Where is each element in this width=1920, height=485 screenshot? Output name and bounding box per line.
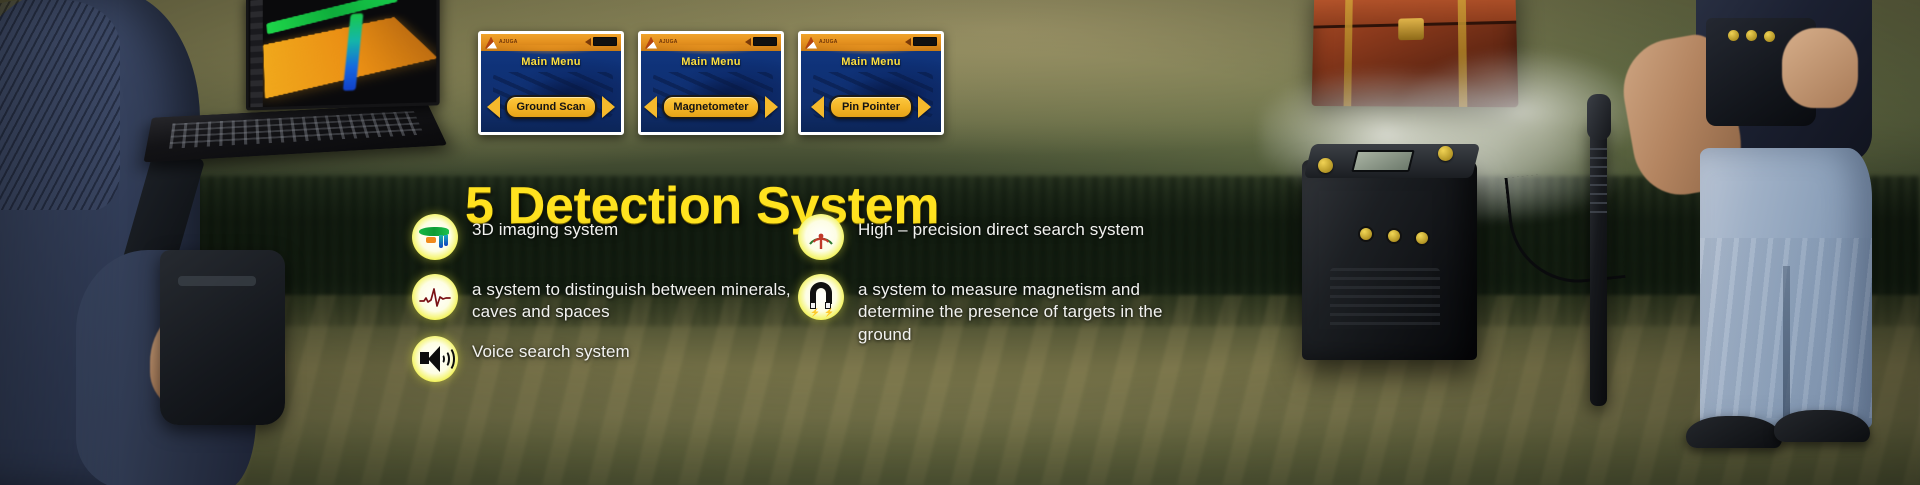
terrain-blue-spike-2 <box>444 235 448 246</box>
chest-band-left <box>1344 0 1353 106</box>
laptop-keyboard-base <box>143 104 447 163</box>
3d-terrain-glyph <box>418 224 452 250</box>
panel-mode-selector: Pin Pointer <box>801 95 941 119</box>
device-panel-magnetometer[interactable]: AJUGA Main Menu Magnetometer <box>638 31 784 135</box>
panel-title: Main Menu <box>481 56 621 68</box>
device-panel-ground-scan[interactable]: AJUGA Main Menu Ground Scan <box>478 31 624 135</box>
speaker-glyph <box>420 346 450 372</box>
probe-rings <box>1590 148 1607 214</box>
left-photo-scene <box>0 0 420 485</box>
magnet-icon: ⚡ ⚡ <box>798 274 844 320</box>
detector-button-2 <box>1386 228 1402 244</box>
selected-mode-label[interactable]: Pin Pointer <box>829 95 913 119</box>
right-photo-scene <box>1260 0 1920 485</box>
detector-case <box>1302 160 1477 360</box>
logo-text: AJUGA <box>499 40 518 45</box>
man-left-hand <box>1782 28 1858 108</box>
pouch-knob-3 <box>1764 31 1775 42</box>
detector-knob-left <box>1318 158 1333 173</box>
jeans-inseam <box>1783 266 1790 428</box>
promo-banner: AJUGA Main Menu Ground Scan AJUGA <box>0 0 1920 485</box>
detector-knob-right <box>1438 146 1453 161</box>
panel-title: Main Menu <box>801 56 941 68</box>
selected-mode-label[interactable]: Ground Scan <box>505 95 596 119</box>
chest-lock <box>1398 18 1424 40</box>
battery-indicator <box>745 37 777 46</box>
previous-mode-arrow-icon[interactable] <box>811 96 824 118</box>
logo-text: AJUGA <box>819 40 838 45</box>
logo-mark-icon <box>805 37 817 49</box>
volume-icon <box>745 38 751 46</box>
terrain-orange-patch <box>426 237 436 243</box>
device-panel-pin-pointer[interactable]: AJUGA Main Menu Pin Pointer <box>798 31 944 135</box>
selected-mode-label[interactable]: Magnetometer <box>662 95 759 119</box>
detector-probe-rod <box>1590 118 1607 406</box>
detector-vents <box>1330 268 1440 330</box>
feature-item-3d-imaging: 3D imaging system <box>412 214 792 260</box>
next-mode-arrow-icon[interactable] <box>602 96 615 118</box>
shoulder-bag <box>160 250 285 425</box>
feature-label: 3D imaging system <box>472 214 618 241</box>
feature-label: Voice search system <box>472 336 630 363</box>
magnet-spark-left: ⚡ <box>810 309 820 317</box>
battery-indicator <box>585 37 617 46</box>
battery-icon <box>753 37 777 46</box>
brand-logo: AJUGA <box>645 36 679 49</box>
terrain-blue-spike-1 <box>439 235 443 248</box>
software-toolbar <box>250 0 262 107</box>
volume-icon <box>905 38 911 46</box>
next-mode-arrow-icon[interactable] <box>918 96 931 118</box>
feature-item-voice-search: Voice search system <box>412 336 792 382</box>
panel-mode-selector: Ground Scan <box>481 95 621 119</box>
laptop-screen <box>246 0 440 110</box>
volume-icon <box>585 38 591 46</box>
battery-icon <box>913 37 937 46</box>
battery-indicator <box>905 37 937 46</box>
feature-item-mineral-discrimination: a system to distinguish between minerals… <box>412 274 792 324</box>
detector-lcd-screen <box>1351 150 1414 172</box>
treasure-chest <box>1312 0 1519 107</box>
detector-button-3 <box>1414 230 1430 246</box>
device-menu-panels: AJUGA Main Menu Ground Scan AJUGA <box>478 31 944 135</box>
brand-logo: AJUGA <box>805 36 839 49</box>
pouch-knob-2 <box>1746 30 1757 41</box>
detector-button-1 <box>1358 226 1374 242</box>
signal-svg <box>806 222 836 252</box>
feature-label: a system to measure magnetism and determ… <box>858 274 1218 346</box>
feature-list-right: High – precision direct search system ⚡ … <box>798 214 1218 360</box>
man-with-detector <box>1650 0 1900 485</box>
pouch-knob-1 <box>1728 30 1739 41</box>
brand-logo: AJUGA <box>485 36 519 49</box>
laptop-keys <box>169 111 424 149</box>
feature-item-magnetism-measurement: ⚡ ⚡ a system to measure magnetism and de… <box>798 274 1218 346</box>
pulse-waveform-icon <box>412 274 458 320</box>
previous-mode-arrow-icon[interactable] <box>487 96 500 118</box>
magnet-glyph: ⚡ ⚡ <box>808 282 834 312</box>
feature-label: a system to distinguish between minerals… <box>472 274 792 324</box>
panel-title: Main Menu <box>641 56 781 68</box>
speaker-sound-icon <box>412 336 458 382</box>
3d-terrain-icon <box>412 214 458 260</box>
next-mode-arrow-icon[interactable] <box>765 96 778 118</box>
logo-mark-icon <box>645 37 657 49</box>
probe-handle-grip <box>1587 94 1611 140</box>
magnet-horseshoe <box>810 282 832 304</box>
logo-mark-icon <box>485 37 497 49</box>
logo-text: AJUGA <box>659 40 678 45</box>
battery-icon <box>593 37 617 46</box>
pulse-svg <box>419 285 451 309</box>
previous-mode-arrow-icon[interactable] <box>644 96 657 118</box>
magnet-spark-right: ⚡ <box>824 309 834 317</box>
feature-label: High – precision direct search system <box>858 214 1144 241</box>
chest-band-right <box>1458 0 1468 107</box>
feature-list-left: 3D imaging system a system to distinguis… <box>412 214 792 396</box>
sound-wave-3 <box>439 346 455 372</box>
panel-mode-selector: Magnetometer <box>641 95 781 119</box>
signal-antenna-icon <box>798 214 844 260</box>
laptop <box>150 0 440 161</box>
shirt-shoulder-seam <box>0 0 120 210</box>
detector-cable <box>1504 167 1625 290</box>
feature-item-high-precision-search: High – precision direct search system <box>798 214 1218 260</box>
man-jeans <box>1700 148 1872 428</box>
